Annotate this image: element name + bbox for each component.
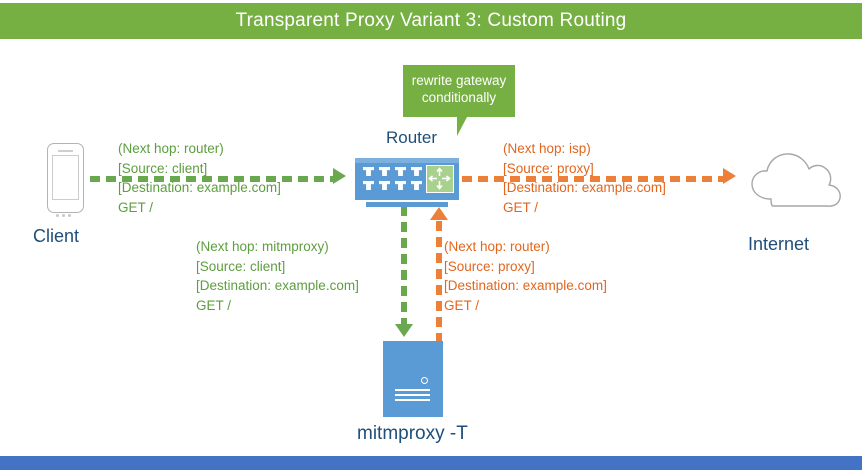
packet-info-mitmproxy-to-router: (Next hop: router) [Source: proxy] [Dest…: [444, 237, 607, 315]
packet-destination: [Destination: example.com]: [196, 276, 359, 296]
packet-source: [Source: proxy]: [444, 257, 607, 277]
packet-destination: [Destination: example.com]: [118, 178, 281, 198]
packet-next-hop: (Next hop: router): [118, 139, 281, 159]
callout-box: rewrite gateway conditionally: [403, 65, 515, 117]
flow-arrowhead-client-to-router: [333, 168, 346, 184]
packet-source: [Source: client]: [118, 159, 281, 179]
packet-next-hop: (Next hop: router): [444, 237, 607, 257]
router-label: Router: [386, 128, 437, 148]
phone-screen-icon: [52, 155, 79, 200]
phone-speaker-icon: [58, 150, 73, 152]
packet-request: GET /: [503, 198, 666, 218]
callout-line-2: conditionally: [403, 89, 515, 106]
flow-line-router-to-mitmproxy: [401, 206, 407, 324]
mitmproxy-server-icon: [383, 341, 443, 417]
client-label: Client: [33, 226, 79, 247]
packet-request: GET /: [196, 296, 359, 316]
server-indicator-icon: [421, 377, 428, 384]
flow-arrowhead-router-to-internet: [723, 168, 736, 184]
router-top-highlight: [355, 158, 459, 163]
packet-info-client-to-router: (Next hop: router) [Source: client] [Des…: [118, 139, 281, 217]
router-base: [366, 202, 448, 207]
packet-info-router-to-mitmproxy: (Next hop: mitmproxy) [Source: client] […: [196, 237, 359, 315]
flow-arrowhead-router-to-mitmproxy: [395, 324, 413, 337]
packet-source: [Source: client]: [196, 257, 359, 277]
internet-label: Internet: [748, 234, 809, 255]
packet-next-hop: (Next hop: mitmproxy): [196, 237, 359, 257]
packet-info-router-to-internet: (Next hop: isp) [Source: proxy] [Destina…: [503, 139, 666, 217]
server-slots-icon: [395, 389, 430, 403]
packet-request: GET /: [118, 198, 281, 218]
bottom-band: [0, 456, 862, 470]
packet-destination: [Destination: example.com]: [503, 178, 666, 198]
phone-buttons-icon: [56, 204, 75, 209]
packet-request: GET /: [444, 296, 607, 316]
diagram-canvas: Transparent Proxy Variant 3: Custom Rout…: [0, 0, 862, 473]
internet-cloud-icon: [747, 149, 845, 211]
flow-line-mitmproxy-to-router: [436, 221, 442, 341]
mitmproxy-label: mitmproxy -T: [357, 423, 468, 445]
packet-source: [Source: proxy]: [503, 159, 666, 179]
packet-destination: [Destination: example.com]: [444, 276, 607, 296]
page-title: Transparent Proxy Variant 3: Custom Rout…: [0, 3, 862, 39]
router-ports-icon: [363, 167, 421, 193]
flow-arrowhead-mitmproxy-to-router: [430, 207, 448, 220]
callout-tail: [457, 117, 467, 136]
packet-next-hop: (Next hop: isp): [503, 139, 666, 159]
callout-line-1: rewrite gateway: [403, 72, 515, 89]
router-routing-arrows-icon: [426, 165, 454, 193]
